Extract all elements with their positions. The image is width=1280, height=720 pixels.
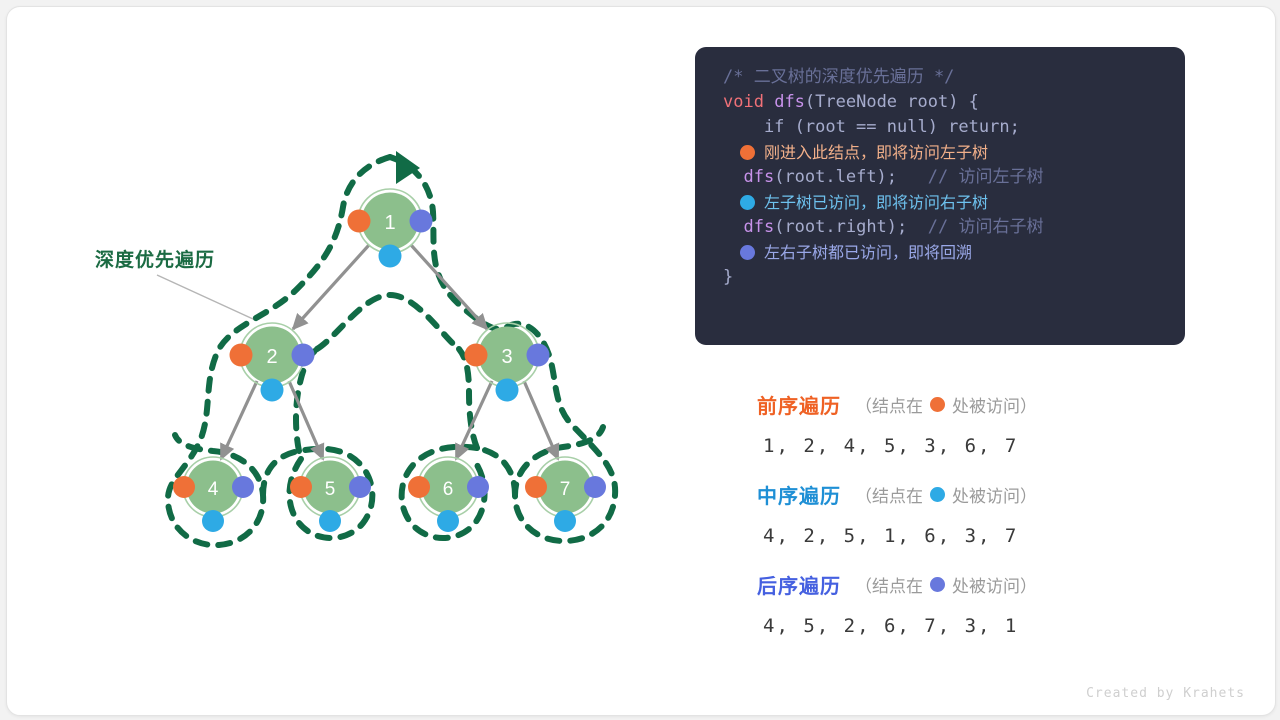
orange-dot-icon	[740, 145, 755, 160]
code-fn-dfs-left: dfs	[743, 165, 774, 190]
inorder-note-suffix: 处被访问）	[952, 482, 1037, 507]
node-7-post-marker	[584, 476, 606, 498]
node-3-pre-marker	[465, 344, 488, 367]
node-6-label: 6	[443, 479, 454, 500]
node-5-in-marker	[319, 510, 341, 532]
tree-svg: 1 2 3	[7, 7, 667, 715]
edge-2-4	[221, 381, 257, 459]
code-fn-dfs-right: dfs	[743, 215, 774, 240]
node-6-pre-marker	[408, 476, 430, 498]
node-4-pre-marker	[173, 476, 195, 498]
code-line-note-post: 左右子树都已访问，即将回溯	[695, 240, 1185, 265]
preorder-title: 前序遍历	[757, 390, 841, 419]
postorder-note-prefix: （结点在	[855, 572, 923, 597]
code-comment-left: // 访问左子树	[928, 165, 1044, 190]
node-1-label: 1	[384, 212, 395, 234]
code-line-note-in: 左子树已访问，即将访问右子树	[695, 190, 1185, 215]
node-2-in-marker	[261, 379, 284, 402]
node-5-label: 5	[325, 479, 336, 500]
postorder-heading: 后序遍历 （结点在 处被访问）	[757, 569, 1187, 599]
edge-1-3	[411, 245, 487, 329]
preorder-sequence: 1, 2, 4, 5, 3, 6, 7	[763, 435, 1187, 457]
node-5-pre-marker	[290, 476, 312, 498]
code-keyword-void: void	[723, 90, 764, 115]
annotation-leader-line	[157, 275, 253, 319]
node-4-label: 4	[208, 479, 219, 500]
traversal-results: 前序遍历 （结点在 处被访问） 1, 2, 4, 5, 3, 6, 7 中序遍历…	[757, 389, 1187, 659]
tree-node-2[interactable]: 2	[230, 323, 315, 402]
preorder-note: （结点在 处被访问）	[855, 392, 1037, 417]
edge-1-2	[293, 245, 369, 329]
inorder-heading: 中序遍历 （结点在 处被访问）	[757, 479, 1187, 509]
figure-card: 1 2 3	[6, 6, 1276, 716]
inorder-note: （结点在 处被访问）	[855, 482, 1037, 507]
node-4-in-marker	[202, 510, 224, 532]
code-comment-right: // 访问右子树	[928, 215, 1044, 240]
inorder-title: 中序遍历	[757, 480, 841, 509]
code-note-preorder: 刚进入此结点，即将访问左子树	[764, 140, 988, 165]
node-2-pre-marker	[230, 344, 253, 367]
node-7-label: 7	[560, 479, 571, 500]
code-fn-dfs: dfs	[774, 90, 805, 115]
code-line-nullcheck: if (root == null) return;	[695, 115, 1185, 140]
node-1-in-marker	[379, 245, 402, 268]
code-close-brace: }	[723, 265, 733, 290]
blue-dot-icon	[930, 487, 945, 502]
purple-dot-icon	[740, 245, 755, 260]
node-3-in-marker	[496, 379, 519, 402]
node-2-label: 2	[266, 346, 277, 368]
node-3-label: 3	[501, 346, 512, 368]
code-line-signature: void dfs(TreeNode root) {	[695, 90, 1185, 115]
code-call-left-rest: (root.left);	[774, 165, 897, 190]
postorder-title: 后序遍历	[757, 570, 841, 599]
node-2-post-marker	[292, 344, 315, 367]
edge-3-7	[524, 381, 558, 459]
postorder-note: （结点在 处被访问）	[855, 572, 1037, 597]
node-7-in-marker	[554, 510, 576, 532]
node-1-post-marker	[410, 210, 433, 233]
blue-dot-icon	[740, 195, 755, 210]
code-comment-header: /* 二叉树的深度优先遍历 */	[723, 65, 954, 90]
code-line-comment: /* 二叉树的深度优先遍历 */	[695, 65, 1185, 90]
binary-tree-diagram: 1 2 3	[7, 7, 667, 715]
start-play-icon	[396, 151, 420, 184]
code-note-postorder: 左右子树都已访问，即将回溯	[764, 240, 972, 265]
node-7-pre-marker	[525, 476, 547, 498]
preorder-heading: 前序遍历 （结点在 处被访问）	[757, 389, 1187, 419]
preorder-note-prefix: （结点在	[855, 392, 923, 417]
code-signature-rest: (TreeNode root) {	[805, 90, 979, 115]
code-snippet-block: /* 二叉树的深度优先遍历 */ void dfs(TreeNode root)…	[695, 47, 1185, 345]
inorder-note-prefix: （结点在	[855, 482, 923, 507]
dfs-annotation-label: 深度优先遍历	[95, 245, 215, 272]
code-nullcheck-text: if (root == null) return;	[723, 115, 1020, 140]
inorder-sequence: 4, 2, 5, 1, 6, 3, 7	[763, 525, 1187, 547]
preorder-note-suffix: 处被访问）	[952, 392, 1037, 417]
code-line-call-left: dfs(root.left); // 访问左子树	[695, 165, 1185, 190]
tree-node-7[interactable]: 7	[525, 457, 606, 532]
node-3-post-marker	[527, 344, 550, 367]
node-4-post-marker	[232, 476, 254, 498]
purple-dot-icon	[930, 577, 945, 592]
node-6-in-marker	[437, 510, 459, 532]
code-call-right-rest: (root.right);	[774, 215, 907, 240]
code-line-note-pre: 刚进入此结点，即将访问左子树	[695, 140, 1185, 165]
node-1-pre-marker	[348, 210, 371, 233]
orange-dot-icon	[930, 397, 945, 412]
node-5-post-marker	[349, 476, 371, 498]
postorder-sequence: 4, 5, 2, 6, 7, 3, 1	[763, 615, 1187, 637]
tree-node-5[interactable]: 5	[290, 457, 371, 532]
code-note-inorder: 左子树已访问，即将访问右子树	[764, 190, 988, 215]
code-line-close-brace: }	[695, 265, 1185, 290]
credit-text: Created by Krahets	[1086, 686, 1245, 701]
code-line-call-right: dfs(root.right); // 访问右子树	[695, 215, 1185, 240]
node-6-post-marker	[467, 476, 489, 498]
postorder-note-suffix: 处被访问）	[952, 572, 1037, 597]
